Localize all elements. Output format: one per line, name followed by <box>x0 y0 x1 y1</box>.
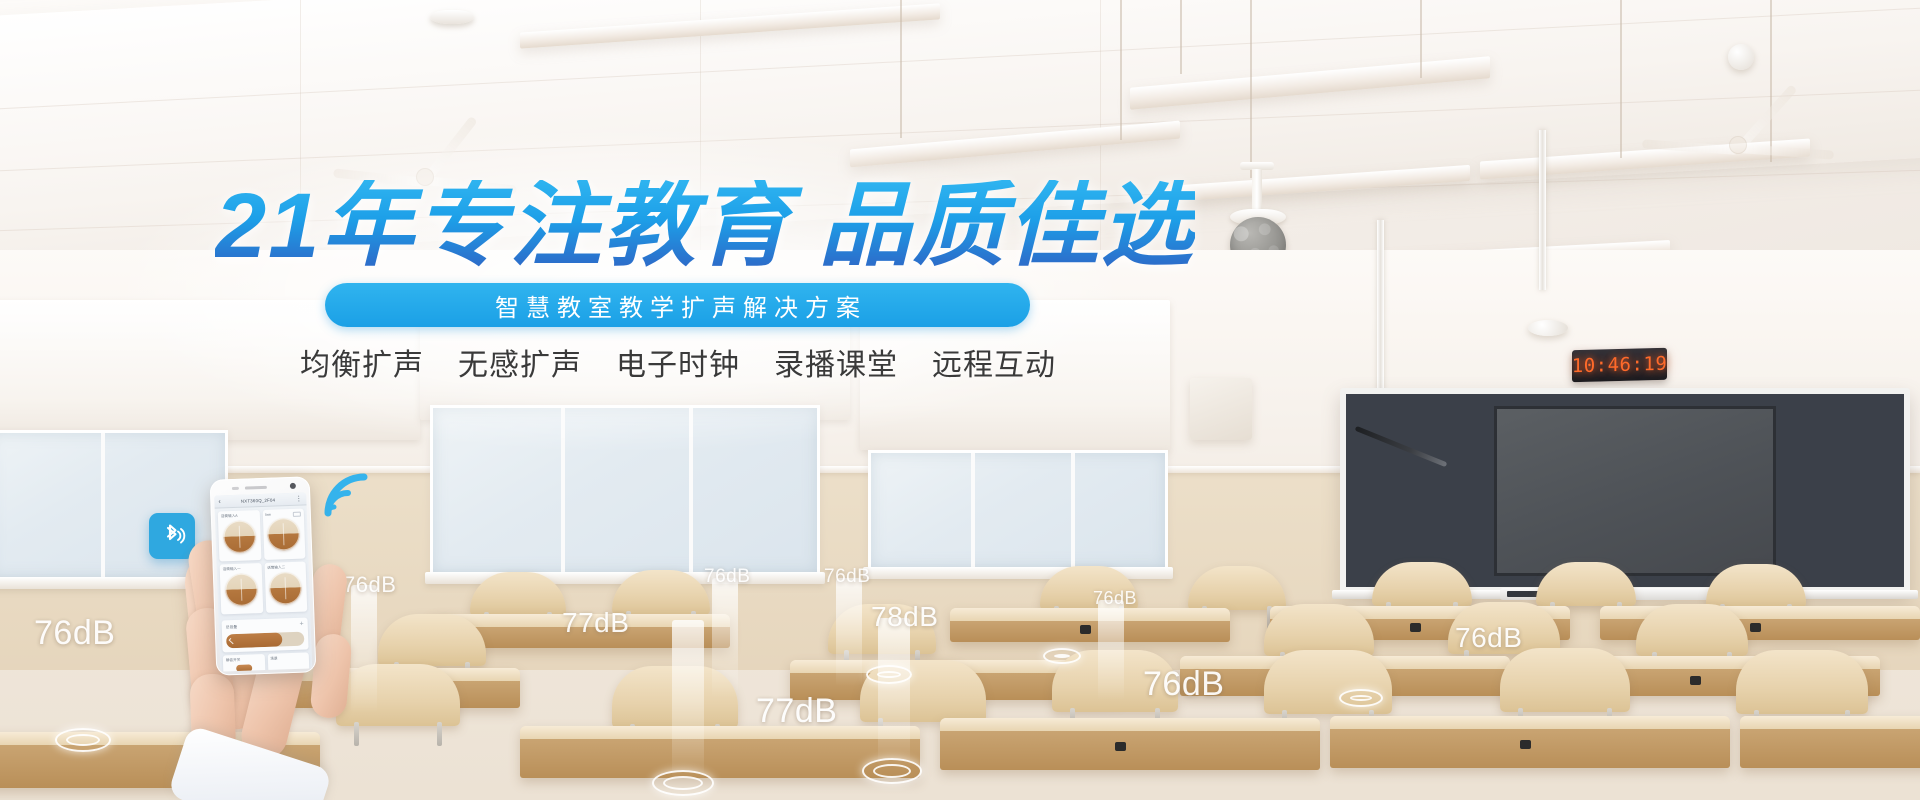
db-reading: 78dB <box>871 601 938 633</box>
chair <box>1188 566 1286 610</box>
master-volume-card: 总音量 + <box>222 617 309 652</box>
back-button[interactable]: ‹ <box>218 498 221 505</box>
feature-item: 均衡扩声 <box>300 340 424 384</box>
mute-toggle[interactable] <box>236 664 252 671</box>
sound-ripple-icon <box>55 728 111 752</box>
slider-fill <box>226 632 283 648</box>
chair <box>1736 650 1868 714</box>
smartphone: ‹ NXT360Q_2F04 ⋮ 话筒输入Aline话筒输入一话筒输入二 总音量… <box>210 476 317 675</box>
chair <box>1636 604 1748 656</box>
gain-dial[interactable] <box>225 573 258 606</box>
device-card-label: 话筒输入二 <box>267 565 303 571</box>
add-button[interactable]: + <box>300 622 304 628</box>
device-card[interactable]: 话筒输入一 <box>220 563 263 614</box>
desk <box>1330 716 1730 768</box>
sound-ripple-icon <box>866 665 912 684</box>
db-reading: 76dB <box>1455 622 1522 654</box>
page-title: 21年专注教育 品质佳选 <box>215 180 1195 274</box>
action-button-label: 静音开关 <box>226 657 262 663</box>
device-card-badge <box>293 512 301 517</box>
classroom-banner: 10:46:19 <box>0 0 1920 800</box>
sound-ripple-icon <box>1043 648 1081 664</box>
ceiling-fan <box>1640 118 1840 178</box>
sound-ripple-icon <box>1339 689 1383 707</box>
ceiling-mount <box>1528 320 1568 336</box>
device-card-grid: 话筒输入Aline话筒输入一话筒输入二 <box>215 505 311 617</box>
db-reading: 77dB <box>562 607 629 639</box>
more-menu-icon[interactable]: ⋮ <box>295 496 302 501</box>
device-card-label: 话筒输入A <box>221 513 257 519</box>
desk <box>520 726 920 778</box>
pendant-rod <box>900 0 902 138</box>
ceiling-pod <box>430 10 474 24</box>
feature-item: 无感扩声 <box>458 340 582 384</box>
device-card[interactable]: 话筒输入二 <box>264 562 307 613</box>
master-volume-slider[interactable] <box>226 632 304 649</box>
interactive-display-panel <box>1494 406 1776 576</box>
db-reading: 77dB <box>756 692 837 731</box>
earpiece-speaker <box>245 486 267 490</box>
chair <box>1372 562 1472 606</box>
pendant-rod <box>1180 0 1182 74</box>
chair <box>1706 564 1806 608</box>
digital-wall-clock: 10:46:19 <box>1572 348 1667 382</box>
feature-item: 录播课堂 <box>774 340 898 384</box>
phone-screen: ‹ NXT360Q_2F04 ⋮ 话筒输入Aline话筒输入一话筒输入二 总音量… <box>214 492 312 671</box>
action-button-label: 场景 <box>270 656 306 662</box>
desk <box>950 608 1230 642</box>
gain-dial[interactable] <box>269 572 302 605</box>
subtitle-badge: 智慧教室教学扩声解决方案 <box>325 283 1030 327</box>
app-title: NXT360Q_2F04 <box>241 497 276 503</box>
device-card[interactable]: 话筒输入A <box>218 510 261 561</box>
db-reading: 76dB <box>1093 588 1137 609</box>
pendant-rod <box>1250 0 1252 178</box>
desk <box>1740 716 1920 768</box>
bottom-button-row: 静音开关场景 <box>223 652 310 671</box>
pendant-rod <box>1620 0 1622 158</box>
sound-ripple-icon <box>652 770 714 796</box>
desk <box>940 718 1320 770</box>
feature-item: 电子时钟 <box>616 340 740 384</box>
db-reading: 76dB <box>824 566 870 588</box>
gain-dial[interactable] <box>267 518 300 551</box>
device-card-label: 话筒输入一 <box>223 566 259 572</box>
wall-mounted-box <box>1190 378 1252 440</box>
sound-ripple-icon <box>862 758 922 784</box>
chair <box>1536 562 1636 606</box>
pendant-rod <box>1420 0 1422 78</box>
db-reading: 76dB <box>1143 665 1224 704</box>
chair <box>612 666 738 728</box>
feature-item: 远程互动 <box>932 340 1056 384</box>
chair <box>1500 648 1630 712</box>
front-camera-icon <box>290 483 296 489</box>
gain-dial[interactable] <box>223 520 256 553</box>
window <box>868 450 1168 570</box>
chair <box>1264 604 1374 656</box>
subtitle-text: 智慧教室教学扩声解决方案 <box>488 288 867 323</box>
master-volume-label: 总音量 <box>226 624 238 629</box>
finger <box>309 633 352 720</box>
proximity-sensor <box>232 487 239 490</box>
ceiling-sensor-icon <box>1728 44 1754 70</box>
action-button[interactable]: 场景 <box>267 652 309 671</box>
projector-pole <box>1539 130 1546 290</box>
bluetooth-audio-icon <box>149 513 195 559</box>
db-reading: 76dB <box>704 566 750 588</box>
feature-list: 均衡扩声无感扩声电子时钟录播课堂远程互动 <box>300 340 1056 384</box>
clock-time: 10:46:19 <box>1572 353 1668 378</box>
action-button[interactable]: 静音开关 <box>223 654 265 672</box>
pendant-rod <box>1120 0 1122 140</box>
device-card[interactable]: line <box>262 509 305 560</box>
db-reading: 76dB <box>34 614 115 653</box>
